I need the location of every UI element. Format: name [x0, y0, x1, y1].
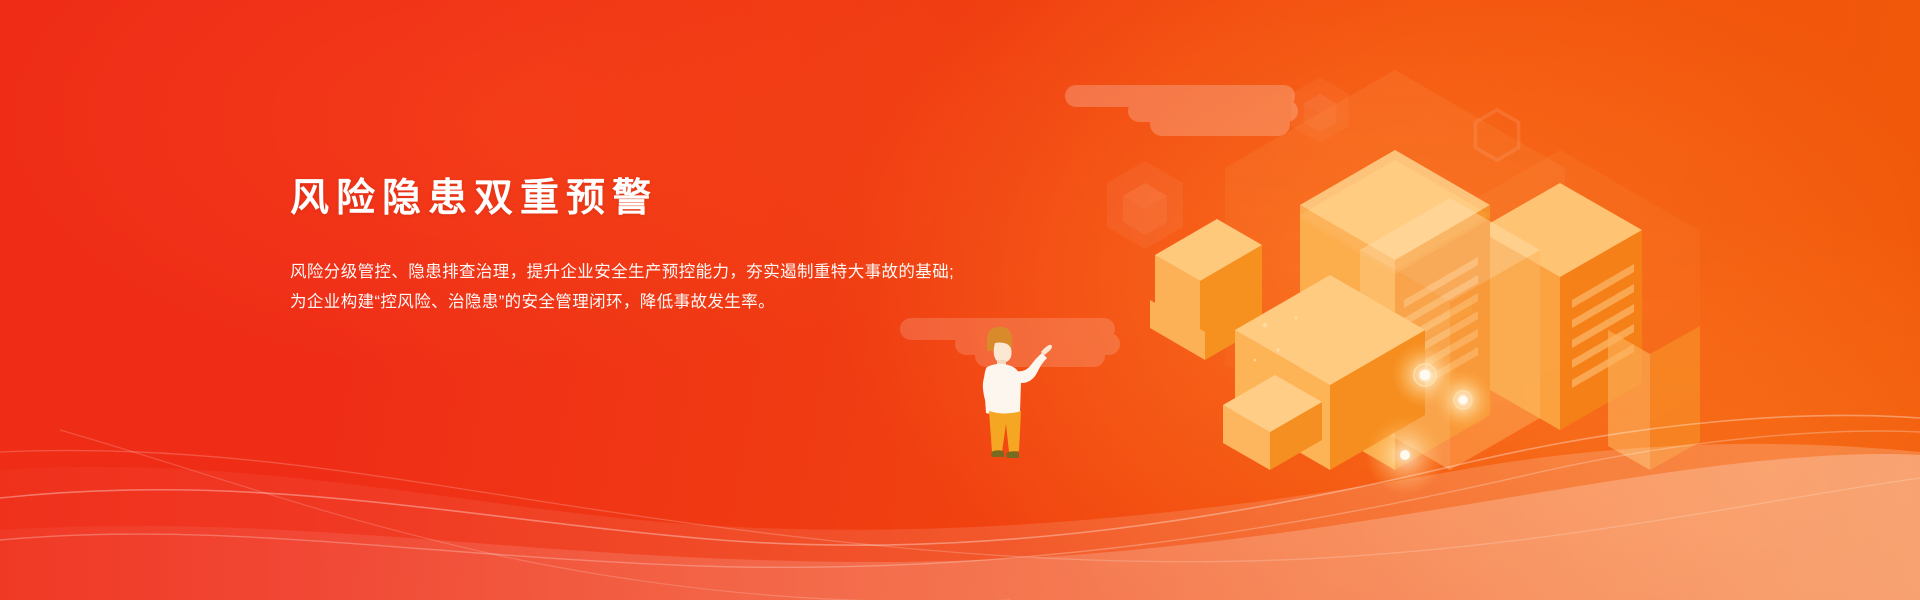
hero-subtitle-line-2: 为企业构建“控风险、治隐患”的安全管理闭环，降低事故发生率。 [290, 287, 990, 317]
hero-subtitle-line-1: 风险分级管控、隐患排查治理，提升企业安全生产预控能力，夯实遏制重特大事故的基础; [290, 257, 990, 287]
page-title: 风险隐患双重预警 [290, 178, 990, 221]
hero-banner: 风险隐患双重预警 风险分级管控、隐患排查治理，提升企业安全生产预控能力，夯实遏制… [0, 0, 1920, 600]
hero-text-block: 风险隐患双重预警 风险分级管控、隐患排查治理，提升企业安全生产预控能力，夯实遏制… [290, 178, 990, 317]
